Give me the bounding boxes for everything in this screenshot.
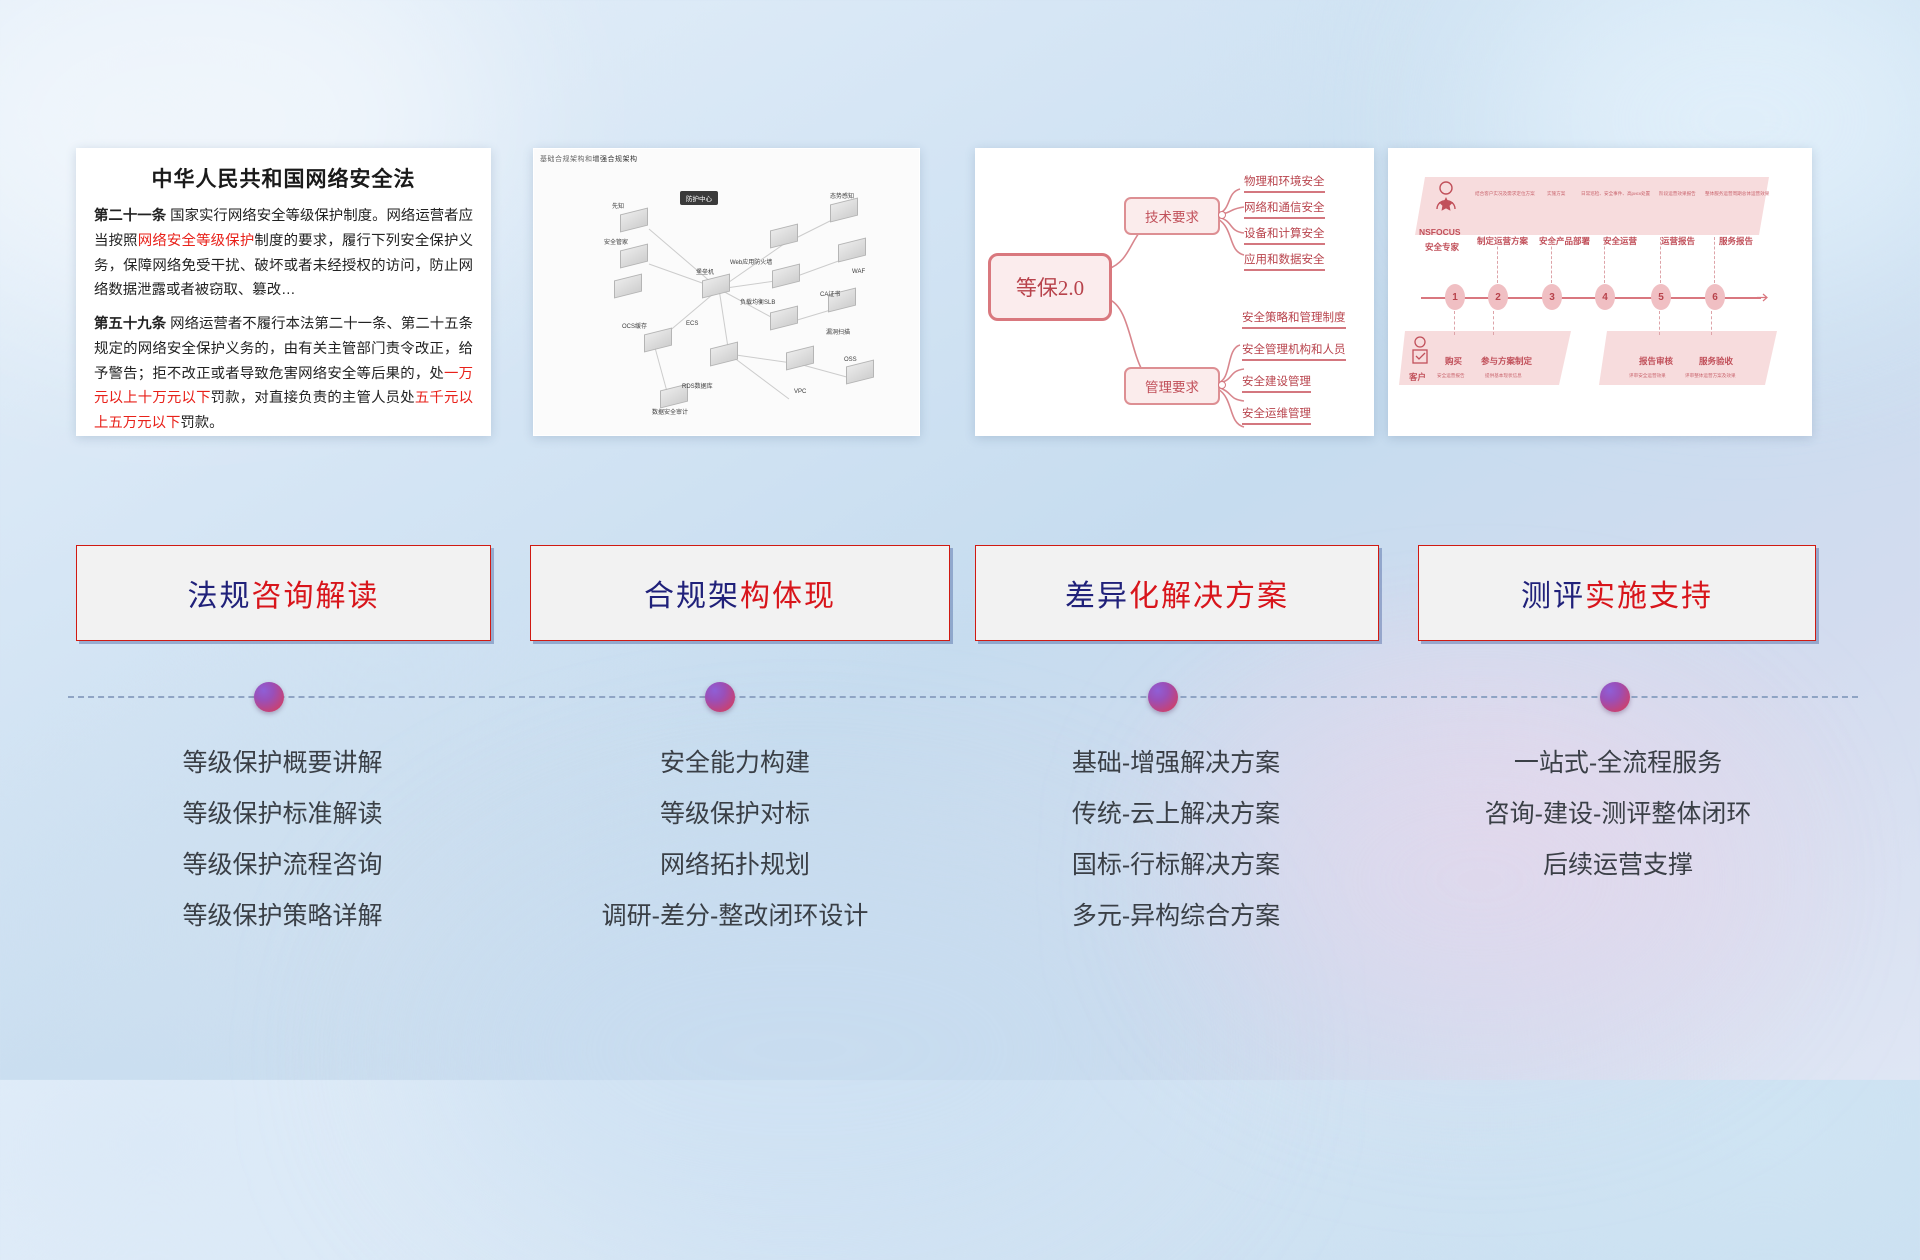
timeline-step-1: 1 [1445, 284, 1465, 310]
timeline-top-big-3: 运营报告 [1661, 235, 1695, 247]
timeline-dash-top-5 [1714, 237, 1716, 283]
section-title-part-b: 咨询解读 [252, 580, 380, 613]
list-item: 一站式-全流程服务 [1418, 738, 1818, 789]
list-item: 基础-增强解决方案 [975, 738, 1377, 789]
mindmap-branch-management: 管理要求 [1124, 367, 1220, 405]
list-item: 后续运营支撑 [1418, 840, 1818, 891]
law-article-21-head: 第二十一条 [94, 208, 166, 224]
mindmap-branch-management-toggle-icon[interactable] [1218, 381, 1226, 389]
card-cybersecurity-law: 中华人民共和国网络安全法 第二十一条 国家实行网络安全等级保护制度。网络运营者应… [76, 148, 491, 436]
architecture-node-14: 数据安全审计 [652, 407, 688, 416]
list-item: 等级保护策略详解 [76, 891, 489, 942]
timeline-dash-top-4 [1660, 237, 1662, 283]
timeline-top-sml-3: 阶段运营效果报告 [1659, 191, 1696, 197]
service-timeline: NSFOCUS 安全专家 结合客户实况及需求定位方案 制定运营方案 实施方案 安… [1389, 149, 1811, 435]
list-item: 传统-云上解决方案 [975, 789, 1377, 840]
architecture-main-tag: 防护中心 [680, 191, 718, 205]
section-title-part-b: 实施支持 [1585, 580, 1713, 613]
section-title-part-a: 测评 [1521, 580, 1585, 613]
timeline-top-sml-0: 结合客户实况及需求定位方案 [1475, 191, 1535, 197]
timeline-bottom-sml-3: 评审整体运营方案及效果 [1685, 373, 1736, 379]
architecture-node-2: 态势感知 [830, 191, 854, 200]
architecture-node-10: OSS [844, 357, 857, 363]
timeline-bottom-big-0: 购买 [1445, 355, 1462, 367]
timeline-bottom-sml-0: 安全运营报告 [1437, 373, 1465, 379]
law-article-21: 第二十一条 国家实行网络安全等级保护制度。网络运营者应当按照网络安全等级保护制度… [94, 204, 473, 303]
section-title-part-a: 法规 [188, 580, 252, 613]
timeline-step-6: 6 [1705, 284, 1725, 310]
timeline-bottom-sml-1: 提供基本现状信息 [1485, 373, 1522, 379]
architecture-node-3: 堡垒机 [696, 267, 714, 276]
mindmap-core: 等保2.0 [988, 253, 1112, 321]
timeline-top-band [1415, 177, 1769, 235]
law-article-59-c: 罚款。 [180, 415, 223, 431]
architecture-node-7: CA证书 [820, 289, 840, 298]
architecture-node-4: WAF [852, 269, 865, 275]
section-title-part-a: 合规架 [644, 580, 740, 613]
timeline-step-4: 4 [1595, 284, 1615, 310]
architecture-node-5: Web应用防火墙 [730, 257, 772, 266]
card-compliance-architecture: 基础合规架构和增强合规架构 防护中心 [533, 148, 920, 436]
timeline-expert-sub: 安全专家 [1425, 241, 1459, 253]
expert-person-icon [1431, 179, 1461, 229]
timeline-step-5: 5 [1651, 284, 1671, 310]
section-title-part-b: 构体现 [740, 580, 836, 613]
section-header-assessment-support[interactable]: 测评实施支持 [1418, 545, 1816, 641]
timeline-top-sml-1: 实施方案 [1547, 191, 1565, 197]
timeline-top-sml-4: 整体服务运营周期总体运营效果 [1705, 191, 1769, 197]
law-article-59-b: 罚款，对直接负责的主管人员处 [211, 390, 415, 406]
timeline-bottom-big-2: 报告审核 [1639, 355, 1673, 367]
timeline-dash-bottom-3 [1659, 311, 1661, 335]
law-article-59: 第五十九条 网络运营者不履行本法第二十一条、第二十五条规定的网络安全保护义务的，… [94, 312, 473, 436]
timeline-node-4[interactable] [1600, 682, 1630, 712]
list-item: 等级保护对标 [525, 789, 945, 840]
list-item: 等级保护概要讲解 [76, 738, 489, 789]
mindmap-branch-technical-toggle-icon[interactable] [1218, 211, 1226, 219]
section-header-assessment-support-label: 测评实施支持 [1521, 571, 1713, 615]
architecture-caption: 基础合规架构和增强合规架构 [540, 154, 638, 164]
timeline-connector-line [68, 696, 1858, 702]
section-header-differentiated-solution[interactable]: 差异化解决方案 [975, 545, 1379, 641]
mindmap-branch-technical: 技术要求 [1124, 197, 1220, 235]
timeline-bottom-big-1: 参与方案制定 [1481, 355, 1532, 367]
architecture-node-9: ECS [686, 321, 698, 327]
mindmap: 等保2.0 技术要求 物理和环境安全 网络和通信安全 设备和计算安全 应用和数据… [976, 149, 1373, 435]
architecture-node-0: 先知 [612, 201, 624, 210]
list-item: 国标-行标解决方案 [975, 840, 1377, 891]
list-item: 安全能力构建 [525, 738, 945, 789]
law-article-21-highlight: 网络安全等级保护 [138, 233, 255, 249]
section-title-part-a: 差异 [1065, 580, 1129, 613]
section-header-row: 法规咨询解读 合规架构体现 差异化解决方案 测评实施支持 [0, 545, 1920, 645]
list-item: 等级保护流程咨询 [76, 840, 489, 891]
mindmap-leaf-tech-3: 应用和数据安全 [1244, 251, 1325, 271]
timeline-dash-top-1 [1497, 237, 1499, 283]
architecture-caption-emphasis: 增强合规架构 [593, 156, 638, 163]
architecture-caption-plain: 基础合规架构和 [540, 156, 593, 163]
architecture-node-1: 安全管家 [604, 237, 628, 246]
list-item: 多元-异构综合方案 [975, 891, 1377, 942]
timeline-step-3: 3 [1542, 284, 1562, 310]
section-header-compliance-architecture-label: 合规架构体现 [644, 571, 836, 615]
detail-column-assessment-support: 一站式-全流程服务 咨询-建设-测评整体闭环 后续运营支撑 [1418, 738, 1818, 891]
list-item: 咨询-建设-测评整体闭环 [1418, 789, 1818, 840]
timeline-top-sml-2: 日常巡检、安全事件、高риск处置 [1581, 191, 1650, 197]
image-card-row: 中华人民共和国网络安全法 第二十一条 国家实行网络安全等级保护制度。网络运营者应… [0, 148, 1920, 438]
timeline-dash-bottom-1 [1454, 311, 1456, 335]
section-title-part-b: 化解决方案 [1129, 580, 1289, 613]
mindmap-leaf-mgmt-2: 安全建设管理 [1242, 373, 1311, 393]
timeline-step-2: 2 [1488, 284, 1508, 310]
timeline-node-2[interactable] [705, 682, 735, 712]
timeline-dash-top-2 [1551, 237, 1553, 283]
architecture-node-13: OCS缓存 [622, 321, 647, 330]
customer-person-icon [1407, 335, 1433, 371]
list-item: 等级保护标准解读 [76, 789, 489, 840]
detail-column-row: 等级保护概要讲解 等级保护标准解读 等级保护流程咨询 等级保护策略详解 安全能力… [0, 738, 1920, 988]
card-mlps-mindmap: 等保2.0 技术要求 物理和环境安全 网络和通信安全 设备和计算安全 应用和数据… [975, 148, 1374, 436]
detail-column-differentiated-solution: 基础-增强解决方案 传统-云上解决方案 国标-行标解决方案 多元-异构综合方案 [975, 738, 1377, 942]
timeline-expert-title: NSFOCUS [1419, 227, 1461, 237]
card-service-timeline: NSFOCUS 安全专家 结合客户实况及需求定位方案 制定运营方案 实施方案 安… [1388, 148, 1812, 436]
timeline-customer-title: 客户 [1409, 371, 1426, 383]
timeline-bottom-sml-2: 评审安全运营效果 [1629, 373, 1666, 379]
timeline-node-1[interactable] [254, 682, 284, 712]
mindmap-leaf-tech-2: 设备和计算安全 [1244, 225, 1325, 245]
detail-column-compliance-architecture: 安全能力构建 等级保护对标 网络拓扑规划 调研-差分-整改闭环设计 [525, 738, 945, 942]
section-header-regulation-consulting-label: 法规咨询解读 [188, 571, 380, 615]
mindmap-leaf-mgmt-0: 安全策略和管理制度 [1242, 309, 1346, 329]
architecture-diagram: 基础合规架构和增强合规架构 防护中心 [534, 149, 919, 435]
architecture-node-12: RDS数据库 [682, 381, 713, 390]
timeline-top-big-1: 安全产品部署 [1539, 235, 1590, 247]
detail-column-regulation-consulting: 等级保护概要讲解 等级保护标准解读 等级保护流程咨询 等级保护策略详解 [76, 738, 489, 942]
timeline-arrow-icon [1757, 291, 1771, 305]
law-title: 中华人民共和国网络安全法 [94, 163, 473, 193]
mindmap-leaf-tech-0: 物理和环境安全 [1244, 173, 1325, 193]
architecture-node-8: 漏洞扫描 [826, 327, 850, 336]
timeline-dash-bottom-2 [1493, 311, 1495, 335]
list-item: 网络拓扑规划 [525, 840, 945, 891]
mindmap-leaf-tech-1: 网络和通信安全 [1244, 199, 1325, 219]
section-header-compliance-architecture[interactable]: 合规架构体现 [530, 545, 950, 641]
section-header-regulation-consulting[interactable]: 法规咨询解读 [76, 545, 491, 641]
architecture-node-11: VPC [794, 389, 806, 395]
mindmap-leaf-mgmt-1: 安全管理机构和人员 [1242, 341, 1346, 361]
law-text-block: 中华人民共和国网络安全法 第二十一条 国家实行网络安全等级保护制度。网络运营者应… [77, 149, 490, 435]
list-item: 调研-差分-整改闭环设计 [525, 891, 945, 942]
mindmap-leaf-mgmt-3: 安全运维管理 [1242, 405, 1311, 425]
section-header-differentiated-solution-label: 差异化解决方案 [1065, 571, 1289, 615]
timeline-dash-top-3 [1604, 237, 1606, 283]
timeline-top-big-2: 安全运营 [1603, 235, 1637, 247]
timeline-dash-bottom-4 [1711, 311, 1713, 335]
architecture-node-6: 负载均衡SLB [740, 297, 775, 306]
law-article-59-head: 第五十九条 [94, 316, 166, 332]
timeline-node-3[interactable] [1148, 682, 1178, 712]
timeline-bottom-big-3: 服务验收 [1699, 355, 1733, 367]
timeline-top-big-4: 服务报告 [1719, 235, 1753, 247]
timeline-top-big-0: 制定运营方案 [1477, 235, 1528, 247]
